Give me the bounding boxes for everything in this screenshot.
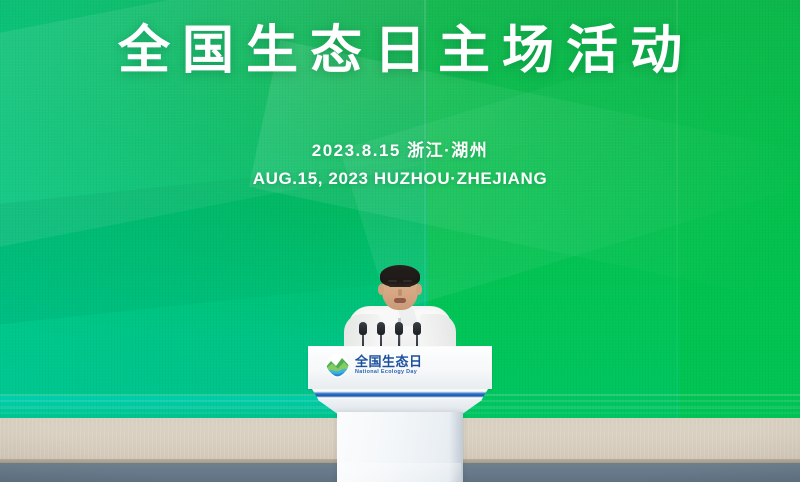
podium-logo: 全国生态日 National Ecology Day — [325, 352, 445, 379]
speaker-ear-right — [416, 284, 422, 295]
speaker-nose — [398, 289, 402, 296]
microphone-head-icon — [395, 322, 403, 335]
microphone-head-icon — [359, 322, 367, 335]
speaker-eye-right — [404, 284, 411, 287]
speaker-eye-left — [389, 284, 396, 287]
speaker-eyebrow-right — [403, 280, 412, 282]
podium-logo-name-cn: 全国生态日 — [355, 355, 423, 368]
speaker-ear-left — [378, 284, 384, 295]
podium-logo-name-en: National Ecology Day — [355, 370, 423, 375]
speaker-mouth — [394, 298, 406, 303]
podium-accent-stripe — [312, 389, 488, 401]
speaker-eyebrow-left — [388, 280, 397, 282]
stage-photo: 全国生态日主场活动 2023.8.15 浙江·湖州 AUG.15, 2023 H… — [0, 0, 800, 482]
microphone-head-icon — [377, 322, 385, 335]
microphone-head-icon — [413, 322, 421, 335]
event-title: 全国生态日主场活动 — [0, 22, 800, 80]
podium-logo-text: 全国生态日 National Ecology Day — [355, 355, 423, 375]
event-date-location-cn: 2023.8.15 浙江·湖州 — [0, 140, 800, 162]
event-date-location-en: AUG.15, 2023 HUZHOU·ZHEJIANG — [0, 168, 800, 190]
speaker-hair — [380, 265, 420, 287]
podium-floor-reflection — [339, 463, 461, 482]
ecology-day-emblem-icon — [325, 353, 350, 378]
